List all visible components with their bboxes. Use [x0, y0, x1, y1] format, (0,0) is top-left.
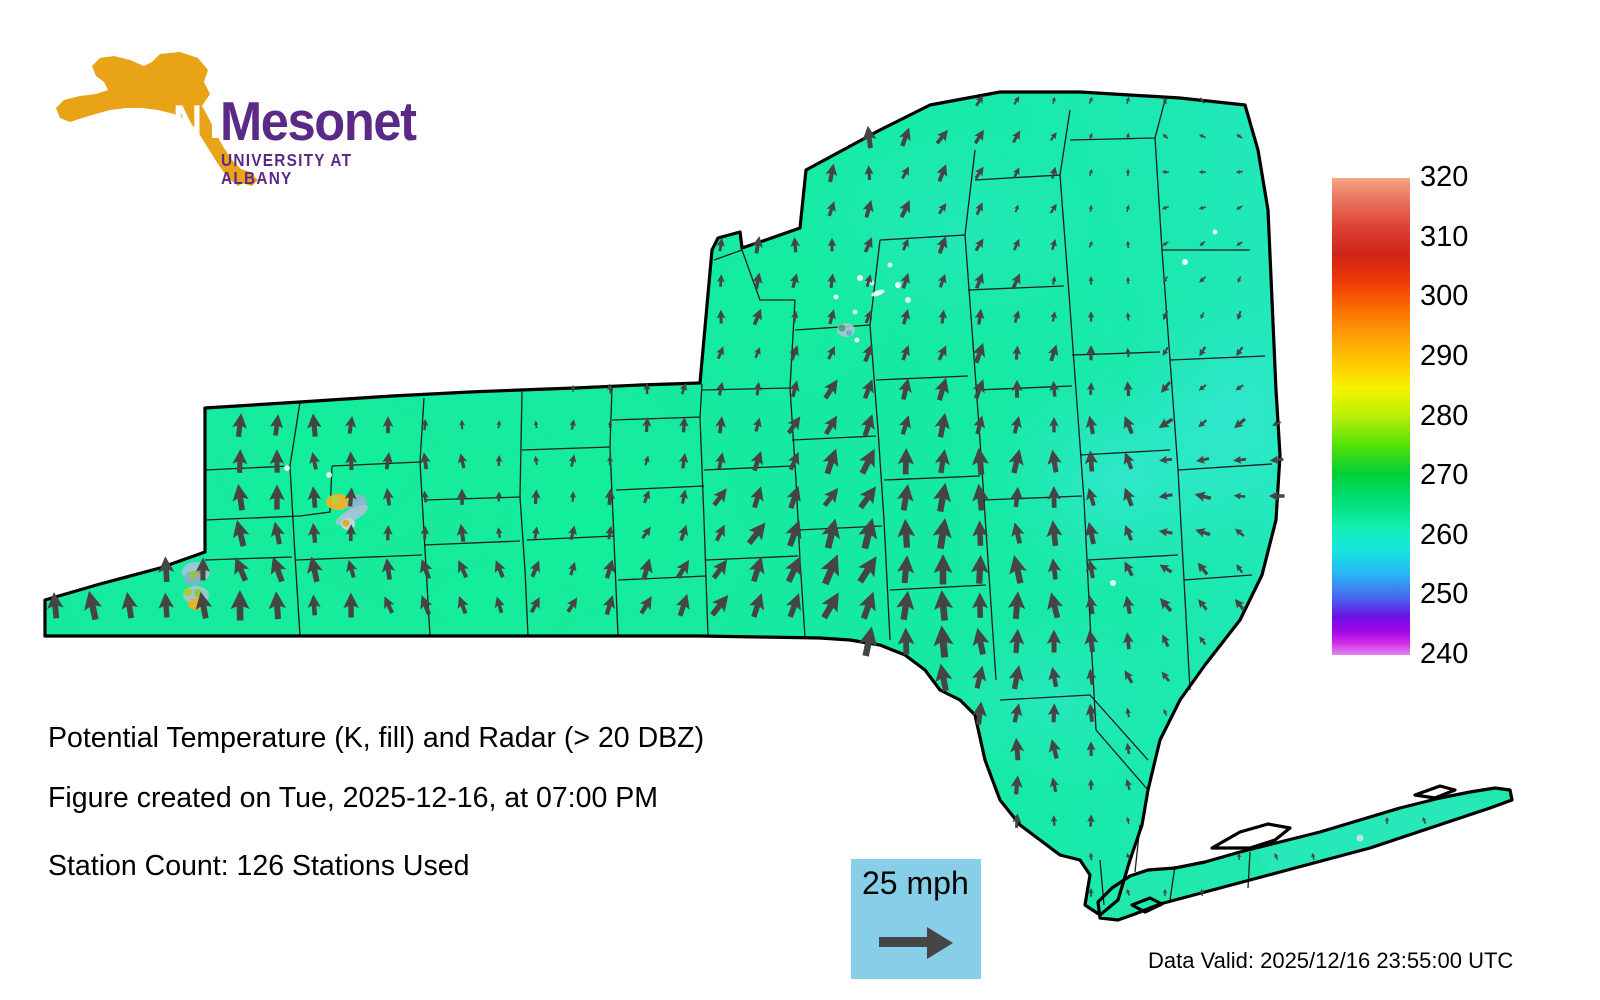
- colorbar-tick-240: 240: [1420, 640, 1468, 669]
- wind-scale-legend: 25 mph: [851, 859, 981, 979]
- colorbar-tick-320: 320: [1420, 163, 1468, 192]
- colorbar-gradient: [1332, 178, 1410, 655]
- wind-scale-label: 25 mph: [862, 867, 969, 899]
- map-title: Potential Temperature (K, fill) and Rada…: [48, 724, 704, 753]
- colorbar-tick-280: 280: [1420, 402, 1468, 431]
- figure-created-text: Figure created on Tue, 2025-12-16, at 07…: [48, 784, 658, 813]
- colorbar-tick-260: 260: [1420, 521, 1468, 550]
- colorbar-tick-290: 290: [1420, 342, 1468, 371]
- colorbar-tick-270: 270: [1420, 461, 1468, 490]
- colorbar-tick-300: 300: [1420, 282, 1468, 311]
- logo-subtitle: UNIVERSITY AT ALBANY: [221, 152, 376, 187]
- colorbar-tick-250: 250: [1420, 580, 1468, 609]
- station-count-text: Station Count: 126 Stations Used: [48, 852, 469, 881]
- colorbar-tick-310: 310: [1420, 223, 1468, 252]
- nys-mesonet-logo: NYS Mesonet UNIVERSITY AT ALBANY: [52, 52, 397, 187]
- wind-scale-arrow-icon: [879, 925, 957, 961]
- data-valid-timestamp: Data Valid: 2025/12/16 23:55:00 UTC: [1148, 948, 1513, 974]
- temperature-colorbar: [1332, 178, 1410, 655]
- logo-brand-secondary: Mesonet: [220, 94, 416, 149]
